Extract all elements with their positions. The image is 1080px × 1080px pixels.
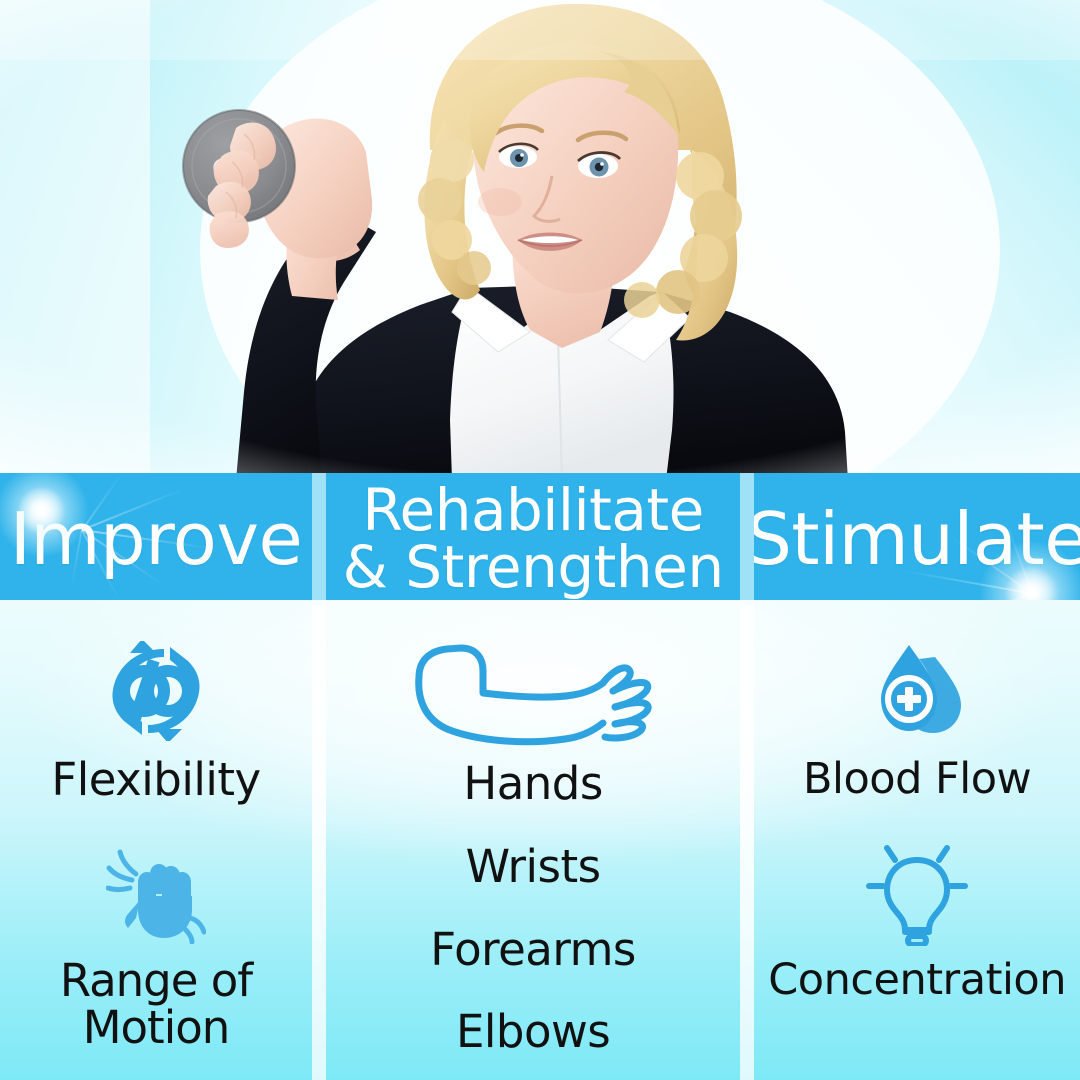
band-divider-2 bbox=[740, 473, 754, 605]
feature-label-hands: Hands bbox=[463, 761, 602, 808]
feature-label-forearms: Forearms bbox=[430, 927, 636, 974]
feature-column-stimulate: Blood Flow Concentration bbox=[754, 605, 1080, 1080]
hero-photo bbox=[0, 0, 1080, 480]
feature-label-range-of-motion-line1: Range of bbox=[60, 958, 252, 1005]
arm-outline-icon bbox=[413, 639, 653, 749]
waving-hand-icon bbox=[106, 848, 206, 944]
band-column-stimulate: Stimulate bbox=[754, 473, 1080, 605]
category-header-band: Improve Rehabilitate & Strengthen Stimul… bbox=[0, 473, 1080, 605]
band-title-rehabilitate: Rehabilitate & Strengthen bbox=[343, 482, 724, 596]
feature-label-elbows: Elbows bbox=[456, 1009, 610, 1056]
feature-columns: Flexibility bbox=[0, 605, 1080, 1080]
band-title-rehabilitate-line2: & Strengthen bbox=[343, 539, 724, 596]
feature-label-flexibility: Flexibility bbox=[51, 757, 260, 804]
band-title-improve: Improve bbox=[10, 504, 303, 575]
band-title-stimulate: Stimulate bbox=[754, 504, 1080, 575]
column-divider-1 bbox=[312, 605, 326, 1080]
infographic-canvas: Improve Rehabilitate & Strengthen Stimul… bbox=[0, 0, 1080, 1080]
feature-label-range-of-motion-line2: Motion bbox=[60, 1005, 252, 1052]
band-title-rehabilitate-line1: Rehabilitate bbox=[343, 482, 724, 539]
blood-drop-plus-icon bbox=[865, 639, 969, 743]
column-divider-2 bbox=[740, 605, 754, 1080]
feature-column-improve: Flexibility bbox=[0, 605, 312, 1080]
feature-label-range-of-motion: Range of Motion bbox=[60, 958, 252, 1052]
feature-column-rehabilitate: Hands Wrists Forearms Elbows bbox=[326, 605, 741, 1080]
lightbulb-icon bbox=[865, 844, 969, 946]
band-column-improve: Improve bbox=[0, 473, 312, 605]
feature-label-concentration: Concentration bbox=[768, 958, 1066, 1003]
refresh-cycle-icon bbox=[104, 639, 208, 743]
band-column-rehabilitate: Rehabilitate & Strengthen bbox=[326, 473, 741, 605]
feature-label-blood-flow: Blood Flow bbox=[803, 757, 1031, 802]
band-divider-1 bbox=[312, 473, 326, 605]
feature-label-wrists: Wrists bbox=[466, 844, 601, 891]
